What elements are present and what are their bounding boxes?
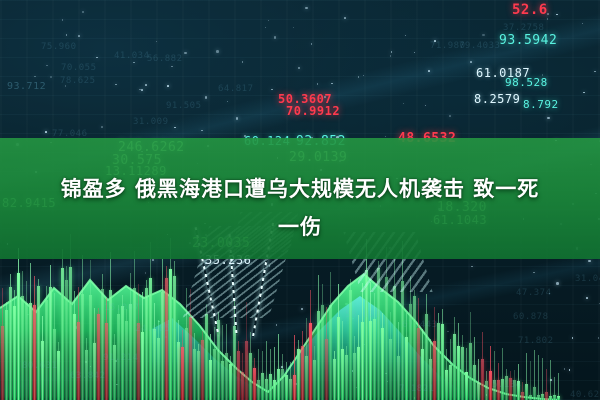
candle-wick	[322, 284, 323, 400]
candle-wick	[342, 321, 343, 400]
candle-wick	[334, 351, 335, 400]
particle-dot	[46, 65, 48, 67]
candle-wick	[166, 266, 167, 400]
particle-dot	[101, 126, 103, 128]
particle-dot	[236, 117, 239, 120]
candle-wick	[154, 303, 155, 400]
candle-bar	[85, 350, 88, 400]
candle-bar	[537, 395, 540, 400]
particle-dot	[305, 7, 308, 10]
candle-wick	[230, 356, 231, 400]
particle-dot	[317, 83, 319, 85]
candle-wick	[502, 348, 503, 400]
candle-bar	[461, 347, 464, 400]
candle-bar	[497, 380, 500, 400]
candle-wick	[270, 349, 271, 400]
candle-bar	[281, 369, 284, 400]
candle-wick	[370, 282, 371, 400]
candle-bar	[429, 359, 432, 400]
candle-wick	[266, 341, 267, 400]
candle-bar	[485, 381, 488, 400]
headline: 锦盈多 俄黑海港口遭乌大规模无人机袭击 致一死 一伤	[0, 156, 600, 259]
particle-dot	[358, 76, 360, 78]
candle-bar	[5, 310, 8, 400]
candle-bar	[61, 268, 64, 400]
candle-bar	[37, 286, 40, 400]
candle-wick	[506, 369, 507, 400]
candle-wick	[290, 362, 291, 400]
particle-dot	[344, 17, 346, 19]
candle-bar	[329, 305, 332, 400]
candle-bar	[65, 280, 68, 400]
particle-dot	[547, 18, 549, 20]
candle-bar	[149, 278, 152, 400]
candle-bar	[325, 339, 328, 400]
candle-bar	[521, 392, 524, 400]
candle-wick	[86, 338, 87, 400]
candle-bar	[389, 339, 392, 400]
candle-bar	[289, 379, 292, 400]
candle-wick	[302, 331, 303, 400]
candle-wick	[422, 329, 423, 400]
candle-bar	[169, 269, 172, 400]
news-thumbnail: 93.594261.018798.5288.25798.79250.360770…	[0, 0, 600, 400]
candle-bar	[361, 322, 364, 400]
candle-bar	[125, 321, 128, 400]
particle-dot	[141, 89, 143, 91]
candle-wick	[430, 339, 431, 400]
candle-bar	[273, 380, 276, 400]
candle-wick	[2, 288, 3, 400]
candle-bar	[397, 356, 400, 400]
particle-dot	[391, 51, 393, 53]
particle-dot	[449, 115, 451, 117]
particle-dot	[139, 89, 141, 91]
candle-bar	[177, 342, 180, 400]
particle-dot	[167, 85, 169, 87]
candle-bar	[189, 317, 192, 400]
candle-bar	[453, 334, 456, 400]
candle-bar	[285, 375, 288, 400]
candle-wick	[410, 276, 411, 400]
candle-bar	[297, 349, 300, 400]
candle-bar	[97, 314, 100, 400]
candle-bar	[157, 338, 160, 400]
candle-wick	[62, 249, 63, 400]
candle-wick	[106, 298, 107, 400]
particle-dot	[488, 72, 490, 74]
candle-wick	[494, 351, 495, 400]
candle-bar	[133, 288, 136, 400]
candle-wick	[294, 335, 295, 400]
candle-bar	[341, 349, 344, 400]
candle-bar	[445, 370, 448, 400]
candle-bar	[545, 392, 548, 400]
candle-wick	[162, 259, 163, 400]
candle-bar	[337, 317, 340, 400]
particle-dot	[547, 13, 549, 15]
candle-wick	[534, 350, 535, 400]
candle-wick	[46, 286, 47, 400]
candle-bar	[93, 343, 96, 400]
candle-bar	[333, 359, 336, 400]
candle-bar	[13, 306, 16, 400]
candle-wick	[18, 248, 19, 400]
candle-wick	[130, 273, 131, 400]
candle-bar	[529, 395, 532, 400]
candle-wick	[114, 334, 115, 400]
candle-bar	[121, 306, 124, 400]
candle-bar	[509, 378, 512, 400]
candle-wick	[146, 280, 147, 400]
candle-wick	[350, 279, 351, 400]
candle-wick	[142, 292, 143, 400]
candle-bar	[425, 314, 428, 400]
candle-bar	[117, 314, 120, 400]
candle-wick	[194, 333, 195, 400]
candle-wick	[138, 284, 139, 400]
candle-bar	[373, 319, 376, 400]
candle-bar	[81, 294, 84, 400]
candle-bar	[197, 351, 200, 400]
candle-bar	[353, 353, 356, 400]
candle-wick	[182, 330, 183, 400]
candle-bar	[349, 290, 352, 400]
candle-bar	[49, 287, 52, 400]
candle-bar	[457, 346, 460, 400]
candle-bar	[237, 351, 240, 400]
candle-bar	[549, 396, 552, 400]
candle-wick	[10, 274, 11, 400]
candle-wick	[518, 364, 519, 400]
candle-wick	[134, 251, 135, 400]
candle-wick	[362, 283, 363, 400]
candle-bar	[473, 365, 476, 400]
candle-bar	[381, 328, 384, 400]
candle-wick	[286, 362, 287, 400]
candle-bar	[405, 337, 408, 400]
candle-wick	[102, 274, 103, 400]
candle-wick	[118, 305, 119, 400]
candle-wick	[474, 337, 475, 400]
candle-wick	[426, 294, 427, 400]
candle-wick	[538, 355, 539, 400]
candle-bar	[481, 359, 484, 400]
particle-dot	[428, 70, 430, 72]
candle-bar	[1, 326, 4, 400]
candle-wick	[222, 325, 223, 400]
candle-wick	[542, 358, 543, 400]
candle-wick	[318, 275, 319, 400]
candle-bar	[293, 375, 296, 400]
candle-bar	[245, 341, 248, 400]
candle-wick	[446, 349, 447, 400]
candle-wick	[358, 315, 359, 400]
candle-bar	[541, 394, 544, 400]
candle-wick	[218, 312, 219, 400]
candle-bar	[209, 360, 212, 400]
candle-wick	[238, 341, 239, 400]
candle-bar	[393, 286, 396, 400]
particle-dot	[145, 84, 147, 86]
candle-wick	[158, 320, 159, 400]
candle-wick	[526, 353, 527, 400]
candle-wick	[26, 281, 27, 400]
candle-bar	[173, 276, 176, 400]
candle-bar	[513, 380, 516, 400]
particle-dot	[65, 85, 67, 87]
candle-wick	[90, 260, 91, 400]
candle-wick	[314, 346, 315, 400]
candle-wick	[206, 304, 207, 400]
candle-bar	[213, 349, 216, 400]
candle-wick	[34, 276, 35, 400]
candle-wick	[510, 371, 511, 400]
candle-bar	[69, 267, 72, 400]
candle-wick	[450, 339, 451, 400]
candle-bar	[77, 322, 80, 400]
particle-dot	[470, 61, 472, 63]
candle-bar	[301, 346, 304, 400]
candle-wick	[22, 271, 23, 400]
candle-bar	[277, 369, 280, 400]
candle-wick	[254, 358, 255, 400]
candle-bar	[105, 323, 108, 400]
candle-bar	[45, 300, 48, 400]
candle-wick	[354, 336, 355, 400]
particle-dot	[50, 76, 52, 78]
candle-bar	[449, 365, 452, 400]
candle-bar	[137, 323, 140, 400]
candle-bar	[413, 296, 416, 400]
candle-bar	[29, 303, 32, 400]
particle-dot	[171, 66, 173, 68]
candle-wick	[466, 348, 467, 400]
candle-wick	[122, 295, 123, 400]
candle-bar	[553, 395, 556, 400]
candle-wick	[434, 307, 435, 400]
candle-bar	[489, 371, 492, 400]
candle-wick	[462, 335, 463, 400]
candle-bar	[557, 396, 560, 400]
candle-wick	[82, 255, 83, 400]
candle-wick	[58, 342, 59, 400]
particle-dot	[271, 89, 273, 91]
candle-wick	[458, 323, 459, 400]
candle-bar	[345, 355, 348, 400]
candle-wick	[338, 284, 339, 400]
candle-wick	[38, 279, 39, 400]
candle-wick	[42, 316, 43, 400]
candle-bar	[505, 376, 508, 400]
particle-dot	[434, 40, 436, 42]
candle-wick	[454, 317, 455, 400]
candle-bar	[41, 341, 44, 400]
candle-wick	[438, 313, 439, 400]
candle-bar	[525, 384, 528, 400]
candle-wick	[414, 290, 415, 400]
candle-wick	[6, 302, 7, 400]
particle-dot	[216, 50, 219, 53]
candle-bar	[421, 349, 424, 400]
particle-dot	[385, 136, 387, 138]
candle-bar	[233, 326, 236, 400]
candle-wick	[214, 327, 215, 400]
candle-bar	[181, 347, 184, 400]
candle-wick	[66, 266, 67, 400]
particle-dot	[390, 55, 392, 57]
particle-dot	[274, 36, 277, 39]
candle-wick	[306, 318, 307, 400]
candle-bar	[185, 328, 188, 400]
candle-wick	[282, 354, 283, 400]
headline-line-2: 一伤	[278, 208, 322, 246]
candle-bar	[441, 324, 444, 400]
candle-wick	[390, 312, 391, 400]
candle-wick	[550, 360, 551, 400]
candle-bar	[317, 311, 320, 400]
candle-bar	[517, 381, 520, 400]
candle-bar	[73, 314, 76, 400]
candle-bar	[265, 379, 268, 400]
candle-wick	[174, 261, 175, 400]
candle-wick	[374, 293, 375, 400]
candle-bar	[141, 332, 144, 400]
candle-bar	[477, 383, 480, 400]
candle-wick	[170, 238, 171, 400]
candle-wick	[14, 290, 15, 400]
candle-bar	[57, 351, 60, 400]
candle-bar	[165, 278, 168, 400]
candle-bar	[369, 321, 372, 400]
particle-dot	[96, 57, 98, 59]
candle-wick	[382, 313, 383, 400]
candle-bar	[437, 323, 440, 400]
candle-bar	[465, 372, 468, 400]
candle-wick	[126, 309, 127, 400]
candle-bar	[401, 281, 404, 400]
candle-bar	[385, 277, 388, 400]
candle-wick	[210, 334, 211, 400]
candle-wick	[94, 308, 95, 400]
candle-wick	[554, 377, 555, 400]
candle-wick	[486, 371, 487, 400]
candle-bar	[309, 323, 312, 400]
candle-wick	[478, 359, 479, 400]
candle-bar	[21, 296, 24, 400]
candle-bar	[113, 345, 116, 400]
candle-bar	[501, 379, 504, 400]
candle-bar	[313, 360, 316, 400]
candle-bar	[205, 314, 208, 400]
candle-wick	[546, 369, 547, 400]
candle-wick	[558, 373, 559, 400]
headline-line-1: 锦盈多 俄黑海港口遭乌大规模无人机袭击 致一死	[61, 170, 540, 208]
candle-bar	[469, 343, 472, 400]
candle-wick	[418, 298, 419, 400]
candle-bar	[257, 380, 260, 400]
candle-wick	[406, 313, 407, 400]
candle-wick	[530, 361, 531, 400]
candle-wick	[150, 242, 151, 400]
candle-bar	[17, 273, 20, 400]
candle-wick	[298, 340, 299, 400]
candle-bar	[269, 374, 272, 400]
candle-bar	[33, 305, 36, 400]
candle-wick	[258, 349, 259, 400]
candle-wick	[498, 363, 499, 400]
candle-wick	[274, 347, 275, 400]
particle-dot	[547, 117, 550, 120]
candle-bar	[433, 341, 436, 400]
candle-bar	[321, 305, 324, 400]
candle-wick	[278, 334, 279, 400]
candle-wick	[54, 293, 55, 400]
candle-wick	[74, 291, 75, 400]
particle-dot	[583, 92, 585, 94]
particle-dot	[45, 131, 47, 133]
candle-wick	[30, 263, 31, 400]
particle-dot	[115, 84, 117, 86]
candle-bar	[25, 303, 28, 400]
candle-bar	[261, 373, 264, 400]
candle-wick	[262, 351, 263, 400]
candle-bar	[241, 372, 244, 400]
candle-bar	[409, 304, 412, 400]
candle-bar	[533, 387, 536, 400]
candle-wick	[470, 312, 471, 400]
particle-dot	[556, 14, 558, 16]
candle-wick	[482, 332, 483, 400]
candle-wick	[442, 309, 443, 400]
candle-wick	[398, 322, 399, 400]
candle-wick	[242, 353, 243, 400]
candle-wick	[226, 324, 227, 400]
candle-wick	[78, 287, 79, 400]
candle-bar	[53, 329, 56, 400]
candle-wick	[346, 346, 347, 400]
candle-bar	[249, 353, 252, 400]
candle-wick	[514, 370, 515, 400]
candle-wick	[310, 290, 311, 400]
candle-bar	[153, 329, 156, 400]
candle-bar	[145, 288, 148, 400]
candle-wick	[326, 307, 327, 400]
candle-bar	[9, 287, 12, 400]
candle-bar	[109, 290, 112, 400]
candle-wick	[198, 344, 199, 400]
candle-wick	[250, 332, 251, 400]
candle-bar	[89, 295, 92, 400]
candle-wick	[178, 320, 179, 400]
candle-bar	[161, 292, 164, 400]
particle-dot	[324, 96, 326, 98]
candle-wick	[98, 308, 99, 400]
candle-wick	[110, 252, 111, 400]
candle-wick	[330, 272, 331, 400]
candle-bar	[129, 304, 132, 400]
particle-dot	[482, 34, 485, 37]
candle-bar	[357, 347, 360, 400]
particle-dot	[78, 35, 80, 37]
candle-bar	[221, 361, 224, 400]
candle-bar	[201, 340, 204, 400]
candle-wick	[50, 265, 51, 400]
candle-wick	[490, 346, 491, 400]
candle-bar	[225, 353, 228, 400]
candle-bar	[193, 349, 196, 400]
candle-bar	[305, 356, 308, 400]
